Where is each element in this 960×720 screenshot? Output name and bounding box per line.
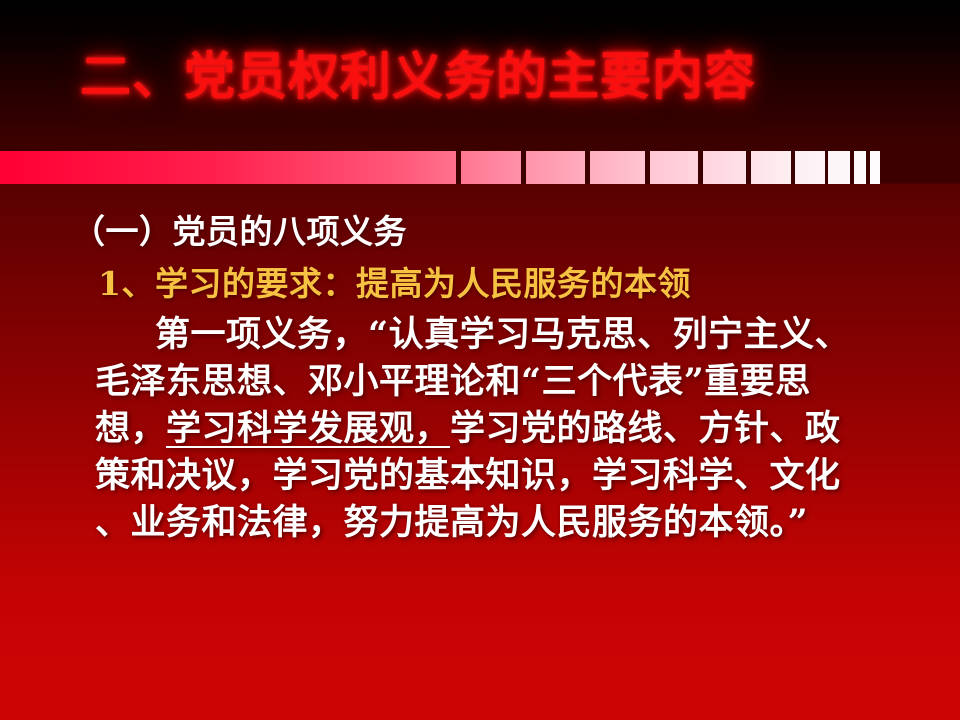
body-line: 毛泽东思想、邓小平理论和“三个代表”重要思 [95,358,926,405]
bar-segment [854,151,866,184]
body-line: 想，学习科学发展观，学习党的路线、方针、政 [95,405,926,452]
body-line-prefix: 想， [95,408,166,449]
title-banner: 二、党员权利义务的主要内容 [0,48,960,143]
slide-title: 二、党员权利义务的主要内容 [80,48,900,107]
section-heading-level1: （一）党员的八项义务 [72,205,960,253]
bar-segment [751,151,791,184]
decorative-gradient-bar [0,151,880,184]
bar-segment [526,151,584,184]
underlined-emphasis: 学习科学发展观， [166,408,450,449]
body-line: 策和决议，学习党的基本知识，学习科学、文化 [95,452,926,499]
presentation-slide: 二、党员权利义务的主要内容 （一）党员的八项义务 1、学习的要求：提高为人民服务… [0,0,960,720]
body-paragraph: 第一项义务，“认真学习马克思、列宁主义、 毛泽东思想、邓小平理论和“三个代表”重… [0,311,960,546]
body-line: 、业务和法律，努力提高为人民服务的本领。” [95,499,926,546]
bar-segment [461,151,521,184]
bar-segment [590,151,646,184]
bar-segment [0,151,456,184]
section-heading-level2: 1、学习的要求：提高为人民服务的本领 [98,257,960,305]
bar-segment [650,151,698,184]
bar-segment [703,151,747,184]
body-line-suffix: 学习党的路线、方针、政 [450,408,841,449]
body-line: 第一项义务，“认真学习马克思、列宁主义、 [95,311,926,358]
slide-body: （一）党员的八项义务 1、学习的要求：提高为人民服务的本领 第一项义务，“认真学… [0,205,960,546]
bar-segment [870,151,880,184]
bar-segment [828,151,850,184]
bar-segment [795,151,825,184]
